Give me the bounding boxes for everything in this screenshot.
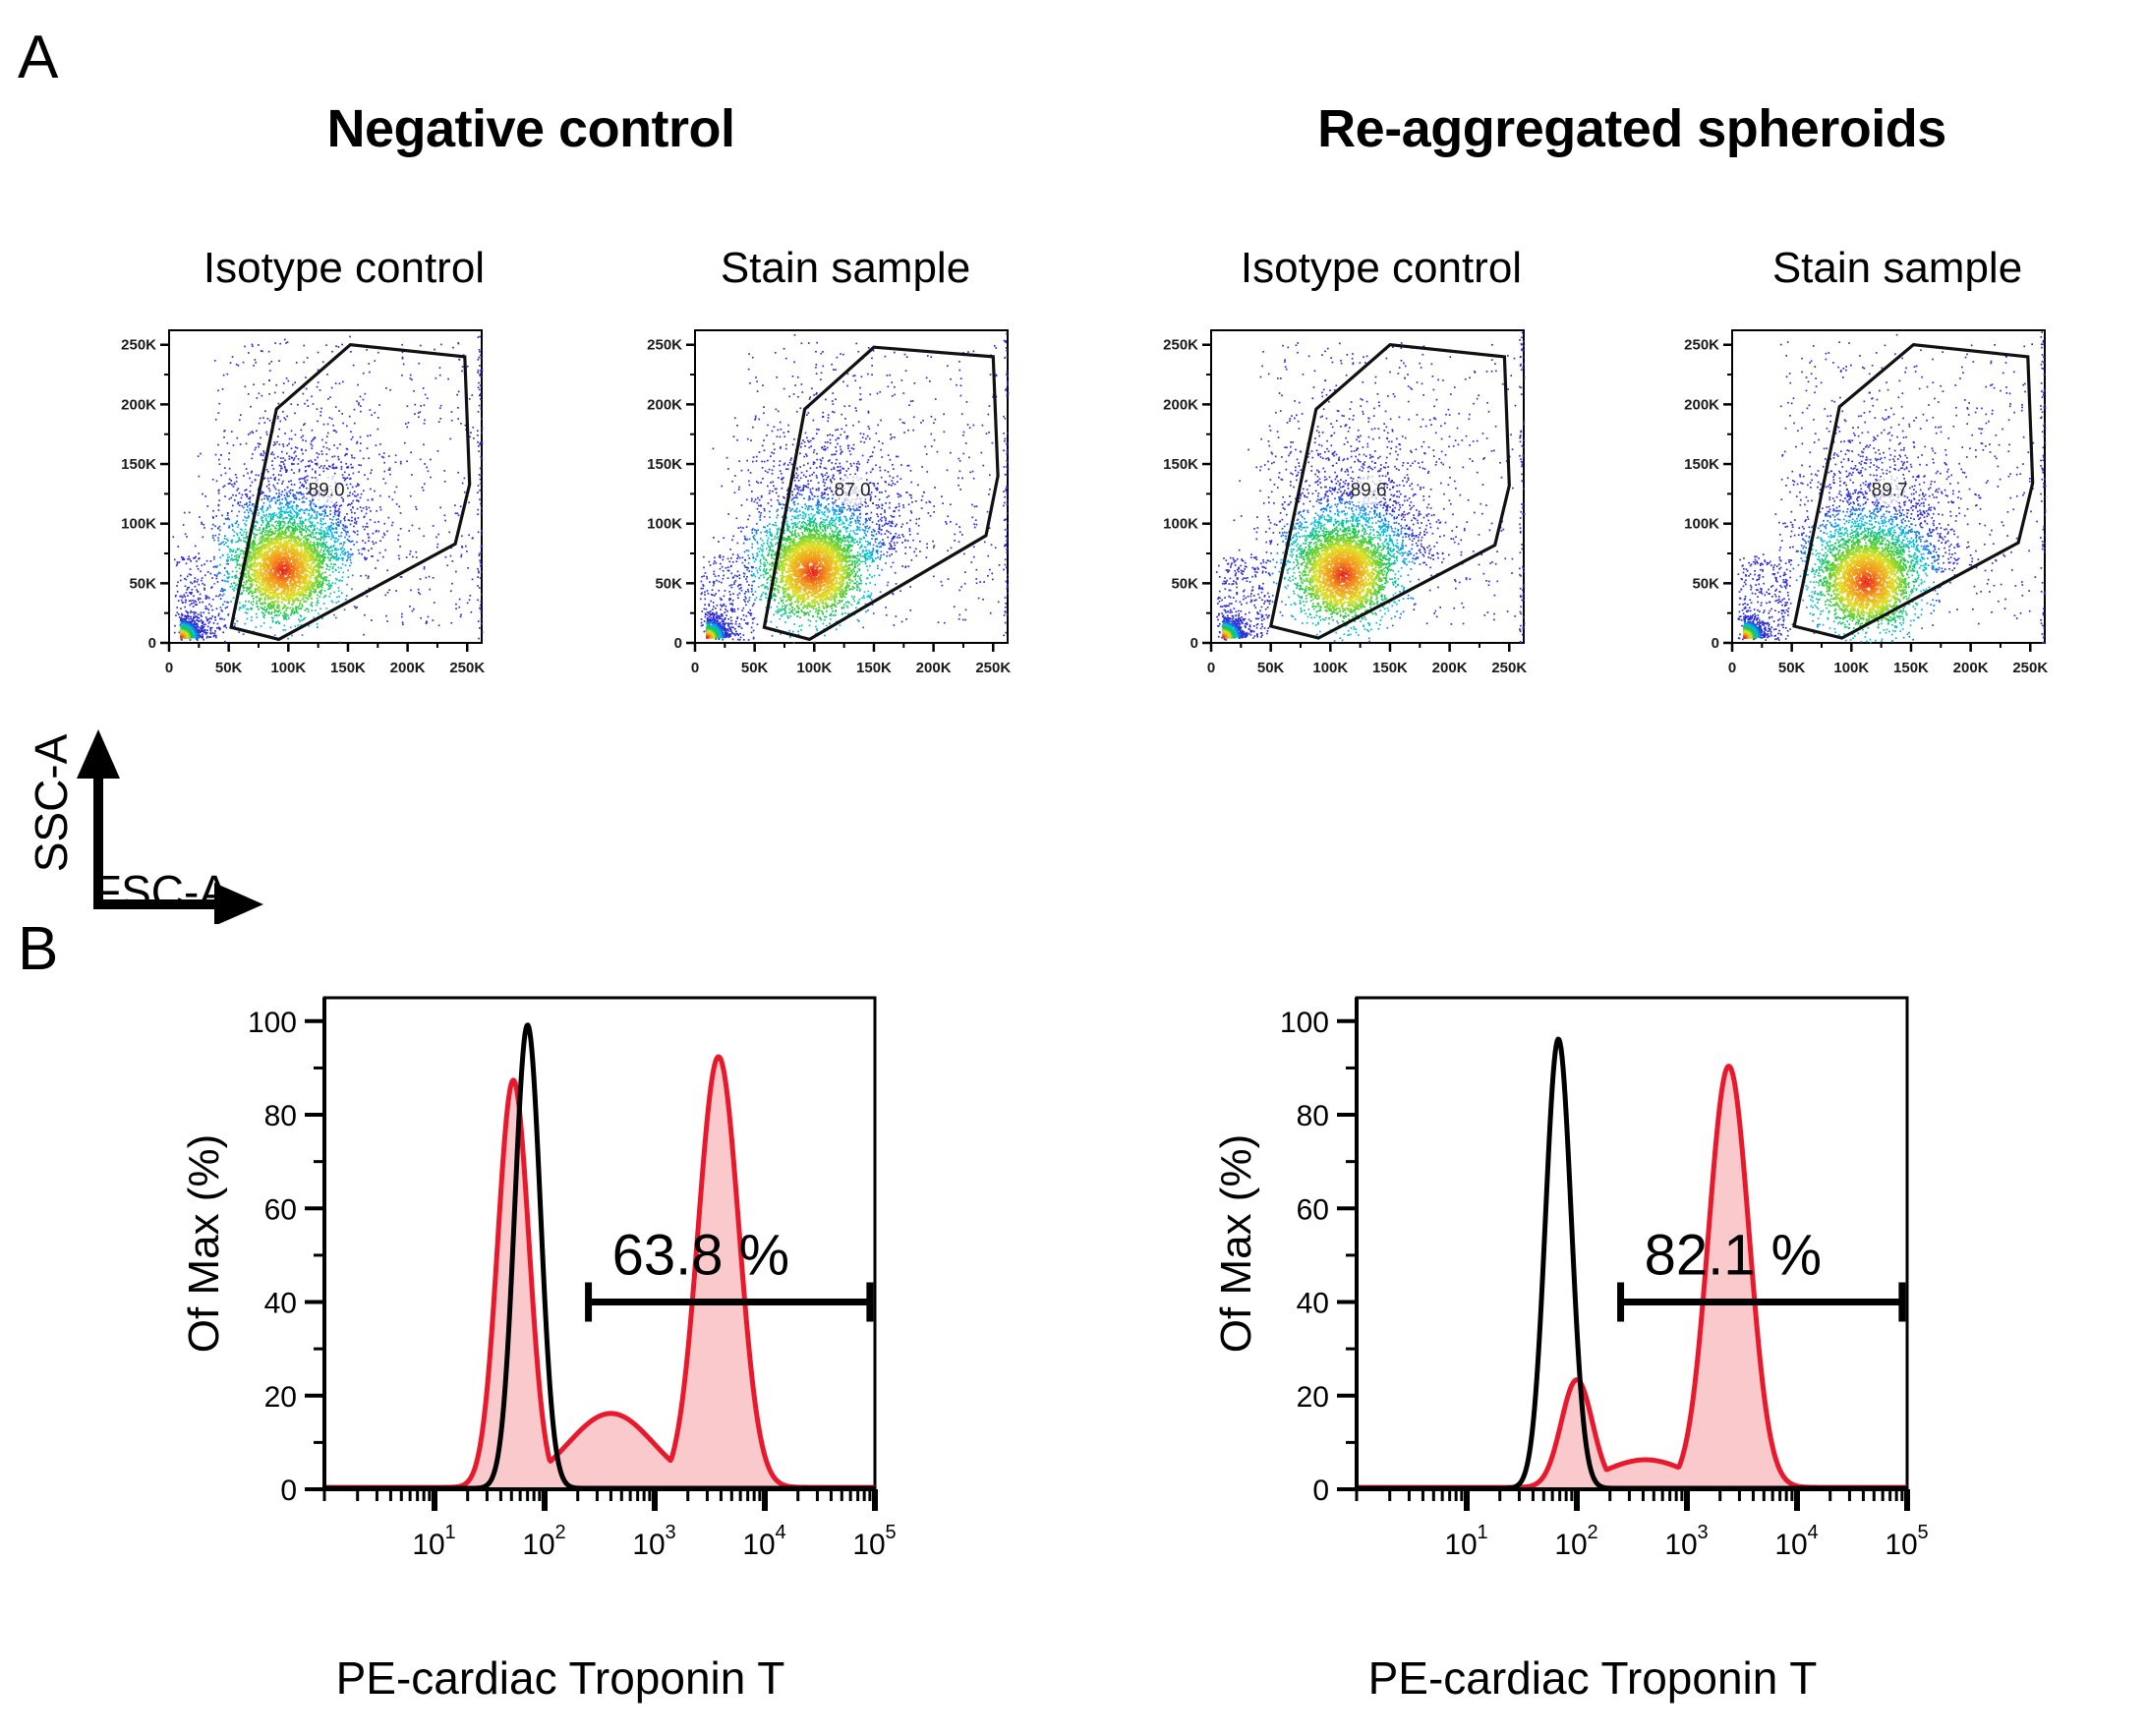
axis-label-ssc-a: SSC-A bbox=[25, 705, 78, 901]
axis-label-fsc-a: FSC-A bbox=[93, 865, 229, 918]
scatter-plot-isotype-negative: 89.0050K100K150K200K250K050K100K150K200K… bbox=[108, 322, 501, 706]
histogram-negative-control: 63.8 %020406080100101102103104105Of Max … bbox=[177, 958, 924, 1637]
subtitle-isotype-control-spheroids: Isotype control bbox=[1175, 244, 1588, 293]
scatter-plot-isotype-spheroids: 89.6050K100K150K200K250K050K100K150K200K… bbox=[1150, 322, 1543, 706]
subtitle-stain-sample-spheroids: Stain sample bbox=[1691, 244, 2104, 293]
subtitle-isotype-control-negative: Isotype control bbox=[138, 244, 551, 293]
group-title-negative-control: Negative control bbox=[157, 98, 904, 159]
x-axis-caption-left: PE-cardiac Troponin T bbox=[187, 1651, 934, 1705]
x-axis-caption-right: PE-cardiac Troponin T bbox=[1219, 1651, 1966, 1705]
subtitle-stain-sample-negative: Stain sample bbox=[639, 244, 1052, 293]
scatter-plot-stain-spheroids: 89.7050K100K150K200K250K050K100K150K200K… bbox=[1671, 322, 2064, 706]
scatter-plot-stain-negative: 87.0050K100K150K200K250K050K100K150K200K… bbox=[634, 322, 1027, 706]
histogram-reaggregated-spheroids: 82.1 %020406080100101102103104105Of Max … bbox=[1209, 958, 1956, 1637]
group-title-reaggregated-spheroids: Re-aggregated spheroids bbox=[1219, 98, 2045, 159]
panel-b-letter: B bbox=[18, 919, 58, 980]
panel-a-letter: A bbox=[18, 28, 58, 88]
